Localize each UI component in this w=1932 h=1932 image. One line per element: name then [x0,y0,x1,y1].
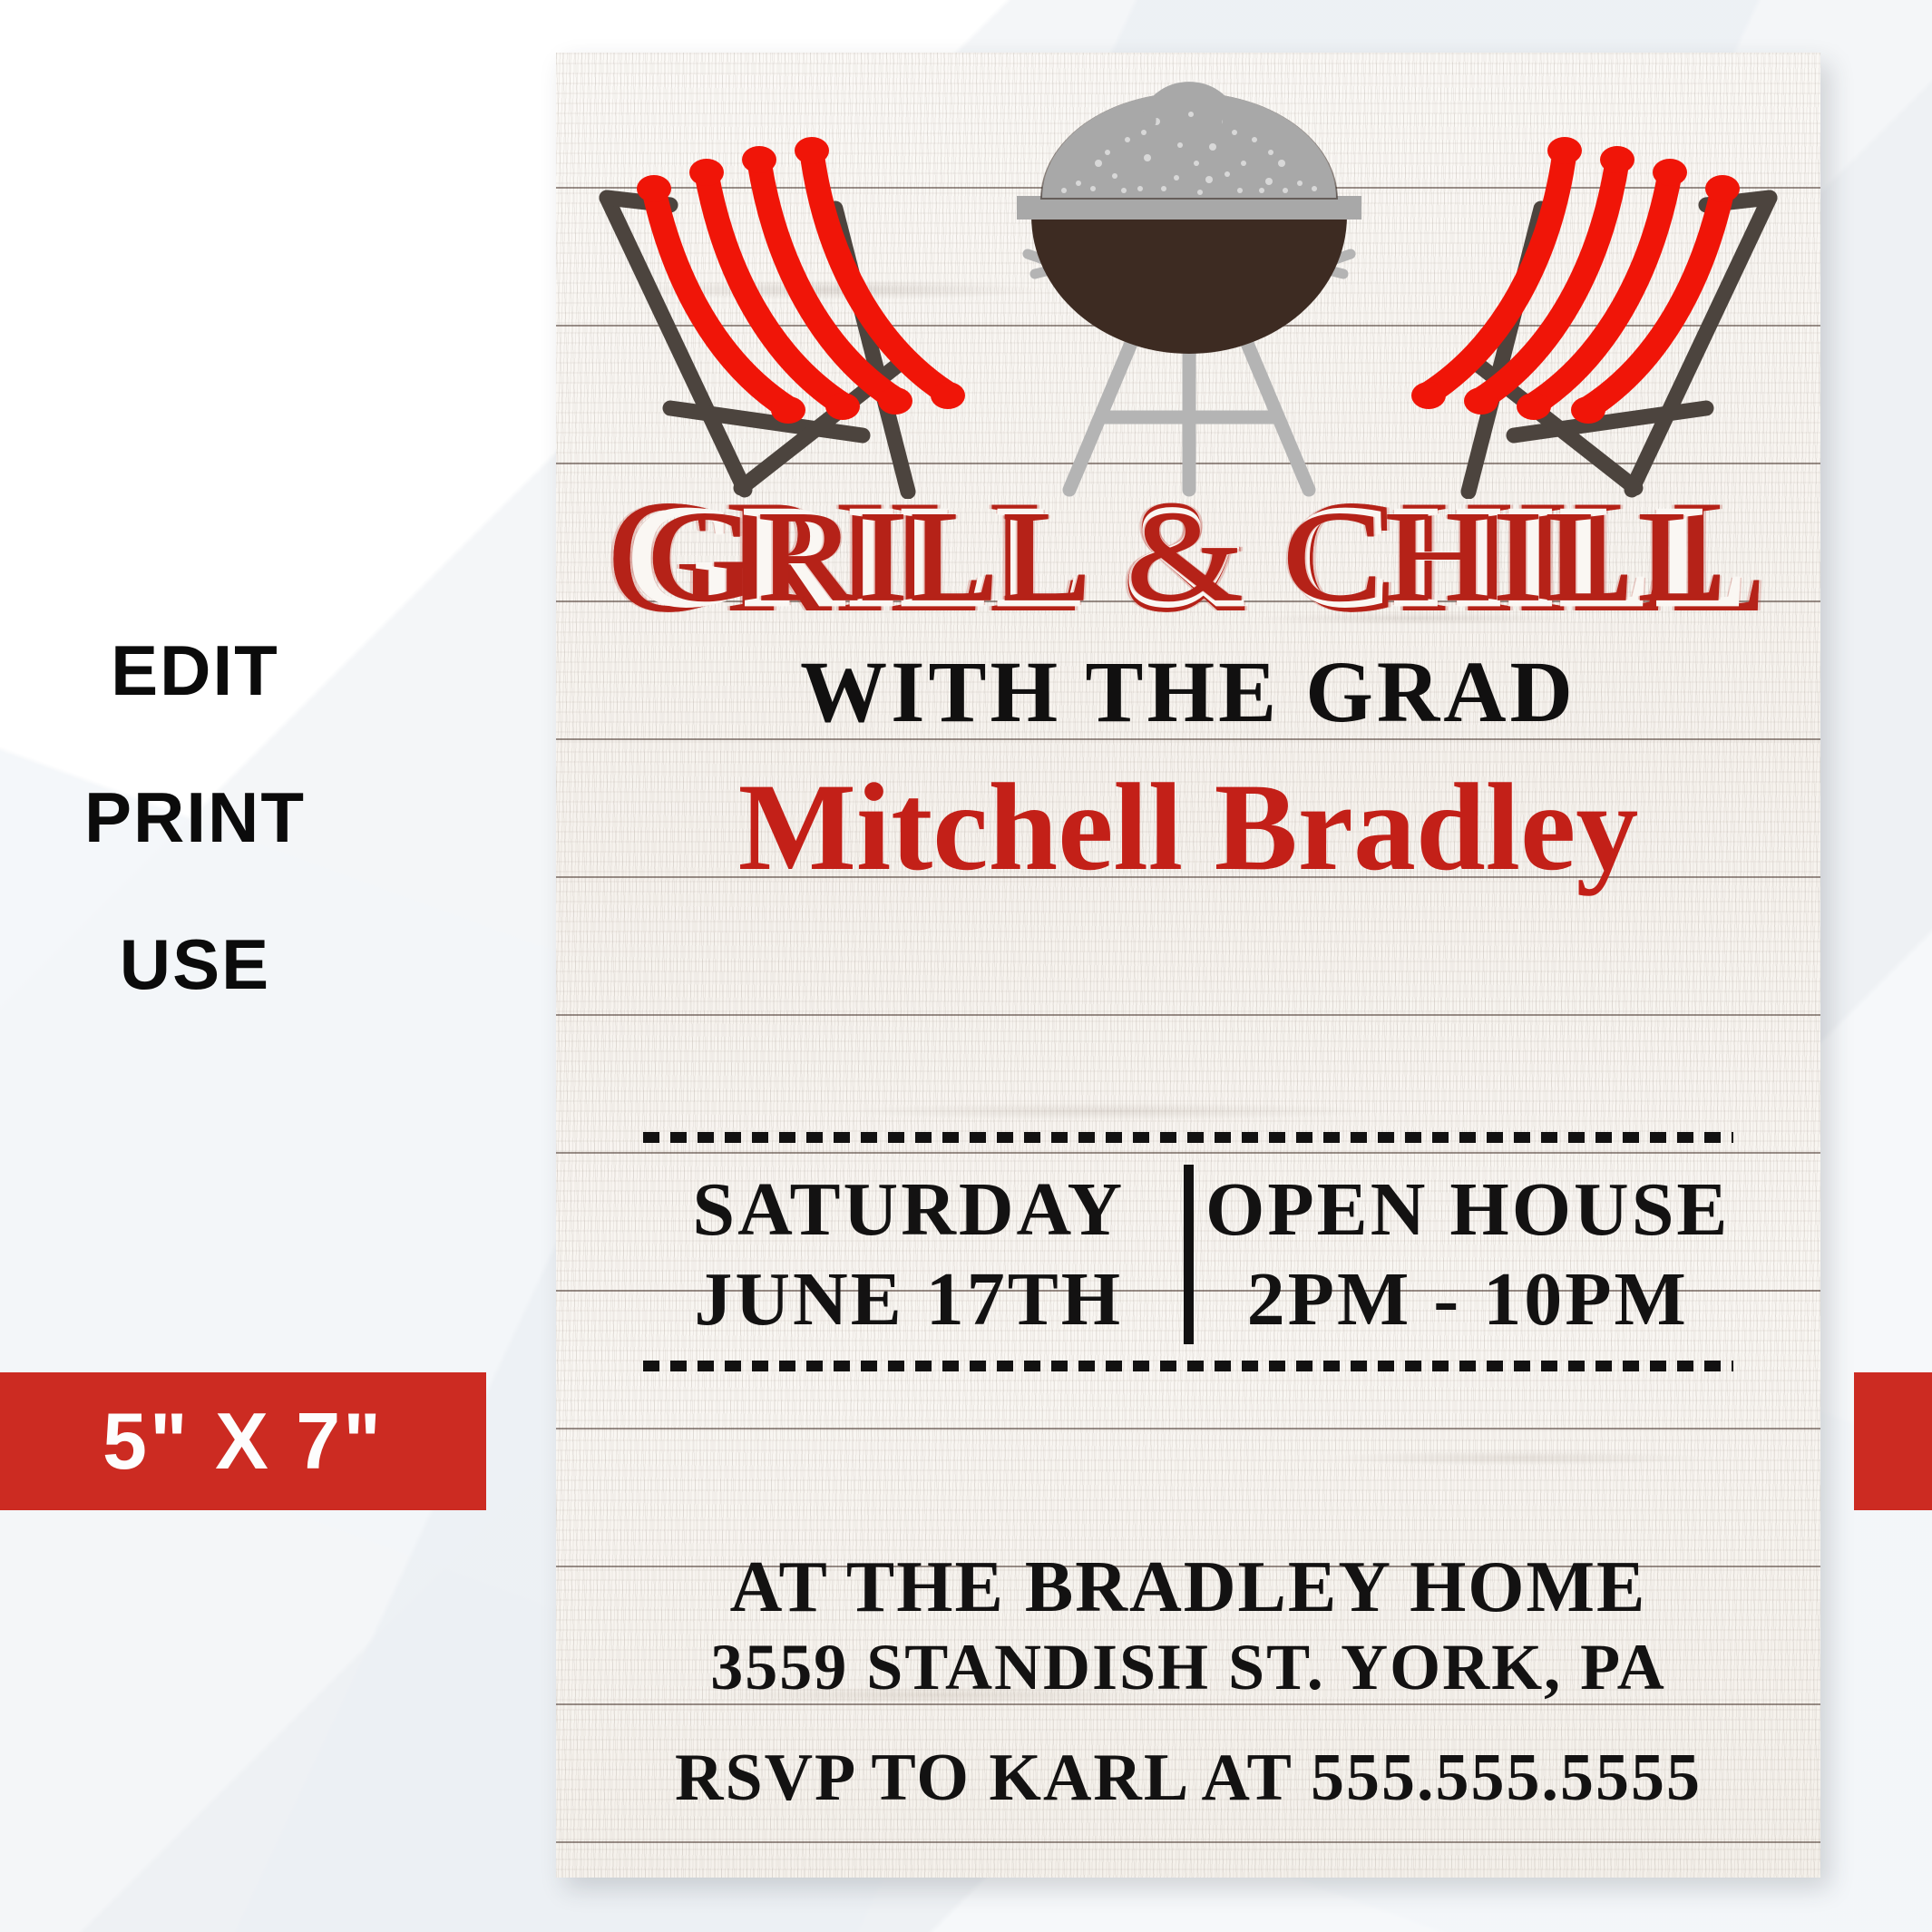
venue-address: 3559 STANDISH ST. YORK, PA [556,1631,1820,1704]
caption-line-edit: EDIT [0,635,390,706]
size-banner-right-stub [1854,1372,1932,1510]
details-date-column: SATURDAY JUNE 17TH [643,1165,1175,1344]
size-banner-label: 5" X 7" [102,1395,384,1488]
card-subheadline: WITH THE GRAD [556,647,1820,738]
charcoal-grill-icon [962,80,1416,499]
invitation-card[interactable]: GRILL & CHILL WITH THE GRAD Mitchell Bra… [556,53,1820,1878]
detail-event-type: OPEN HOUSE [1203,1165,1734,1254]
dashed-rule-bottom [643,1361,1733,1371]
caption-line-print: PRINT [0,782,390,853]
card-headline-text: GRILL & CHILL [607,479,1770,634]
detail-hours: 2PM - 10PM [1203,1254,1734,1344]
dashed-rule-top [643,1132,1733,1143]
details-time-column: OPEN HOUSE 2PM - 10PM [1203,1165,1734,1344]
deck-chair-left-icon [563,136,990,499]
details-vertical-divider [1184,1165,1194,1344]
detail-date: JUNE 17TH [643,1254,1175,1344]
detail-day: SATURDAY [643,1165,1175,1254]
caption-line-use: USE [0,929,390,1000]
venue-block: AT THE BRADLEY HOME 3559 STANDISH ST. YO… [556,1547,1820,1704]
event-details: SATURDAY JUNE 17TH OPEN HOUSE 2PM - 10PM [643,1132,1733,1371]
size-banner: 5" X 7" [0,1372,486,1510]
card-headline: GRILL & CHILL [556,479,1820,634]
graduate-name: Mitchell Bradley [556,764,1820,892]
listing-caption: EDIT PRINT USE [0,635,390,1000]
deck-chair-right-icon [1387,136,1813,499]
card-artwork [556,80,1820,497]
rsvp-line: RSVP TO KARL AT 555.555.5555 [556,1740,1820,1817]
venue-name: AT THE BRADLEY HOME [556,1547,1820,1627]
